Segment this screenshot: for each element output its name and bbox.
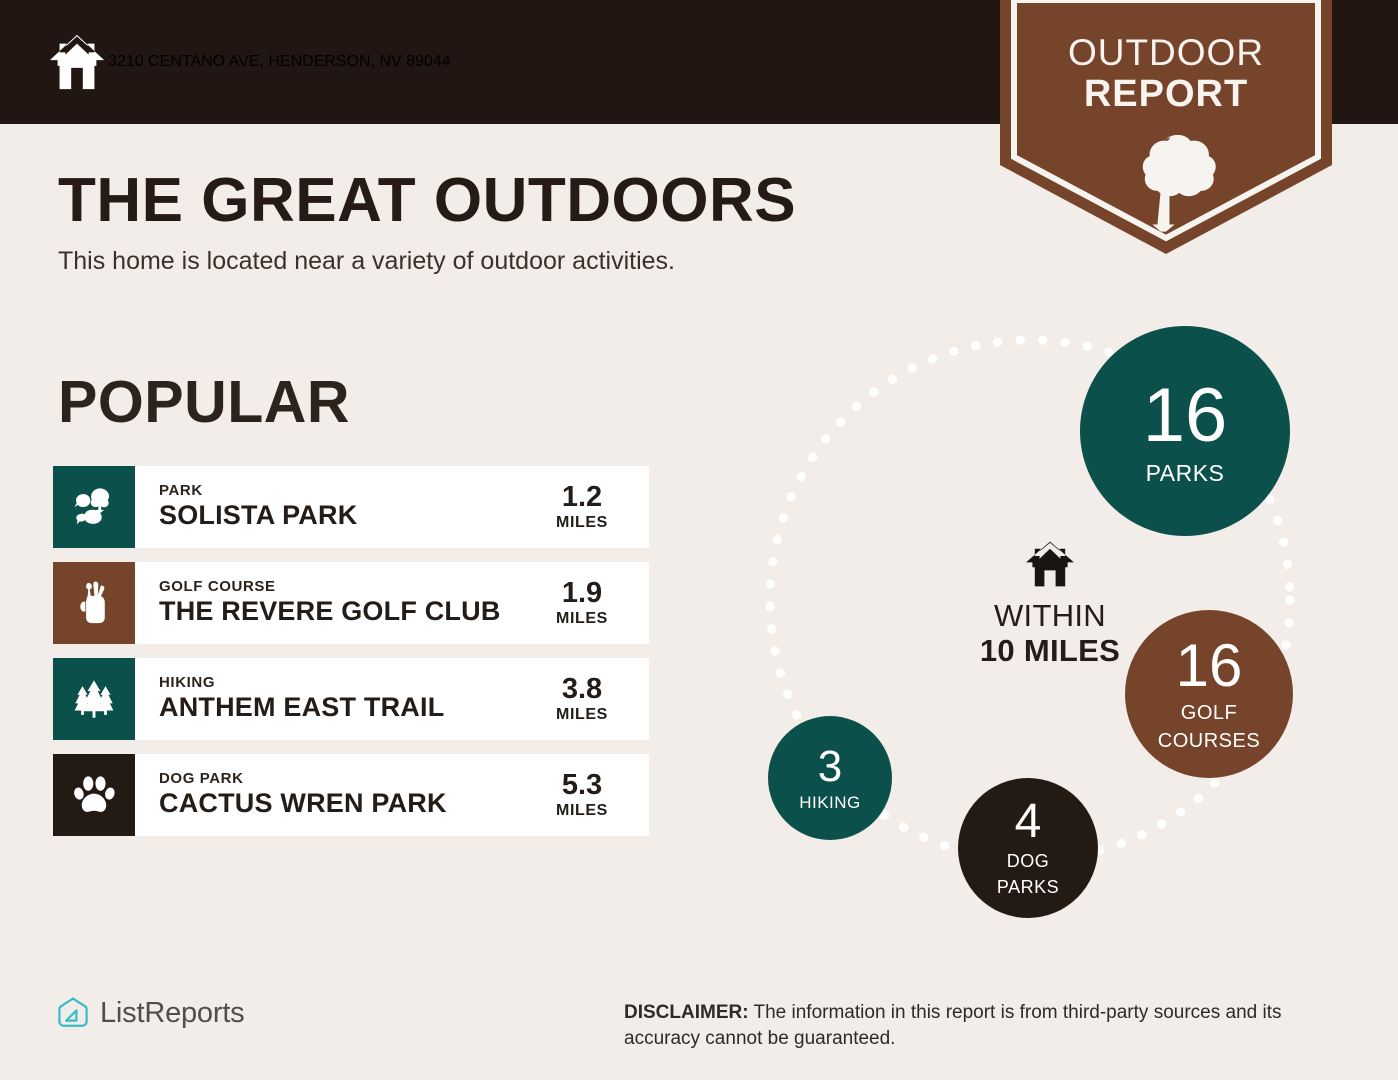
row-name: THE REVERE GOLF CLUB	[159, 596, 523, 627]
title-block: THE GREAT OUTDOORS This home is located …	[58, 168, 958, 276]
list-item[interactable]: HIKING ANTHEM EAST TRAIL 3.8 MILES	[53, 658, 649, 740]
row-category: PARK	[159, 483, 523, 500]
popular-heading: POPULAR	[58, 368, 350, 436]
listreports-logo[interactable]: ListReports	[56, 996, 244, 1030]
bubble-dogparks-label-line1: DOG	[1007, 851, 1050, 872]
listreports-house-icon	[56, 996, 90, 1030]
home-icon	[1024, 540, 1076, 588]
bubble-dogparks-label-line2: PARKS	[997, 877, 1059, 898]
listreports-logo-text: ListReports	[100, 997, 244, 1030]
list-item[interactable]: PARK SOLISTA PARK 1.2 MILES	[53, 466, 649, 548]
golf-bag-icon	[71, 580, 117, 626]
row-distance: 5.3 MILES	[523, 754, 649, 836]
row-text: PARK SOLISTA PARK	[135, 466, 523, 548]
bubble-dog-parks: 4 DOG PARKS	[958, 778, 1098, 918]
row-distance-value: 1.2	[562, 482, 602, 512]
row-name: CACTUS WREN PARK	[159, 788, 523, 819]
row-category: GOLF COURSE	[159, 579, 523, 596]
row-icon-tile	[53, 658, 135, 740]
list-item[interactable]: GOLF COURSE THE REVERE GOLF CLUB 1.9 MIL…	[53, 562, 649, 644]
row-category: DOG PARK	[159, 771, 523, 788]
bubble-hiking-label: HIKING	[799, 794, 861, 811]
page-subtitle: This home is located near a variety of o…	[58, 247, 958, 276]
disclaimer-label: DISCLAIMER:	[624, 1002, 749, 1023]
bubble-golf-label-line1: GOLF	[1181, 702, 1237, 724]
row-category: HIKING	[159, 675, 523, 692]
paw-print-icon	[71, 772, 117, 818]
bubble-parks-label: PARKS	[1146, 462, 1225, 485]
row-distance: 3.8 MILES	[523, 658, 649, 740]
list-item[interactable]: DOG PARK CACTUS WREN PARK 5.3 MILES	[53, 754, 649, 836]
row-distance-value: 1.9	[562, 578, 602, 608]
row-icon-tile	[53, 754, 135, 836]
popular-list: PARK SOLISTA PARK 1.2 MILES GOLF COURSE …	[53, 466, 649, 850]
diagram-center: WITHIN 10 MILES	[910, 540, 1190, 669]
row-distance-unit: MILES	[556, 513, 608, 532]
row-text: DOG PARK CACTUS WREN PARK	[135, 754, 523, 836]
row-distance-value: 5.3	[562, 770, 602, 800]
row-distance: 1.2 MILES	[523, 466, 649, 548]
row-icon-tile	[53, 562, 135, 644]
bubble-hiking: 3 HIKING	[768, 716, 892, 840]
outdoor-report-badge: OUTDOOR REPORT	[1000, 0, 1332, 254]
header-address: 3210 CENTANO AVE, HENDERSON, NV 89044	[108, 53, 451, 71]
page-title: THE GREAT OUTDOORS	[58, 168, 958, 233]
row-distance-unit: MILES	[556, 609, 608, 628]
row-distance-unit: MILES	[556, 801, 608, 820]
pine-trees-icon	[71, 676, 117, 722]
disclaimer: DISCLAIMER: The information in this repo…	[624, 1000, 1350, 1052]
bubble-parks: 16 PARKS	[1080, 326, 1290, 536]
row-distance-unit: MILES	[556, 705, 608, 724]
row-distance: 1.9 MILES	[523, 562, 649, 644]
row-text: HIKING ANTHEM EAST TRAIL	[135, 658, 523, 740]
row-icon-tile	[53, 466, 135, 548]
bubble-dogparks-value: 4	[1015, 798, 1042, 846]
center-label-distance: 10 MILES	[910, 633, 1190, 669]
row-name: SOLISTA PARK	[159, 500, 523, 531]
bubble-hiking-value: 3	[818, 745, 842, 789]
amenities-bubble-diagram: 16 PARKS 16 GOLF COURSES 4 DOG PARKS 3 H…	[740, 318, 1360, 928]
center-label-within: WITHIN	[910, 599, 1190, 633]
bubble-golf-label-line2: COURSES	[1158, 730, 1260, 752]
row-text: GOLF COURSE THE REVERE GOLF CLUB	[135, 562, 523, 644]
home-icon	[46, 31, 108, 93]
row-distance-value: 3.8	[562, 674, 602, 704]
park-tree-icon	[71, 484, 117, 530]
row-name: ANTHEM EAST TRAIL	[159, 692, 523, 723]
bubble-parks-value: 16	[1143, 378, 1228, 454]
